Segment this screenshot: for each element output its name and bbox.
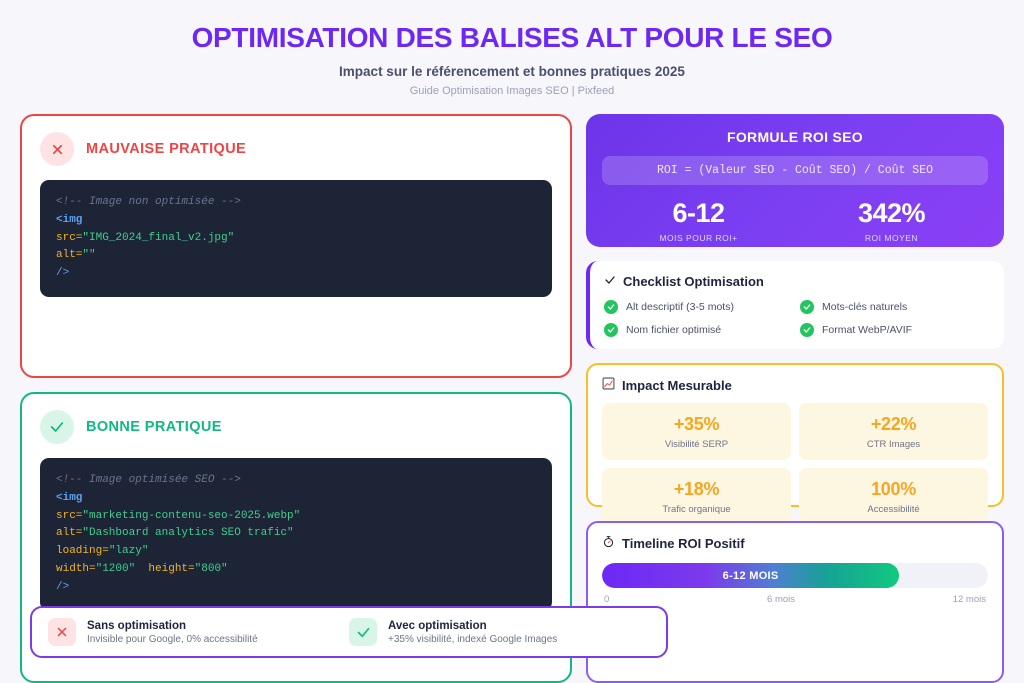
good-practice-code: <!-- Image optimisée SEO --> <img src="m…: [40, 458, 552, 611]
code-comment: <!-- Image non optimisée -->: [56, 196, 241, 208]
comparison-overlay: Sans optimisation Invisible pour Google,…: [30, 606, 668, 658]
page-header: OPTIMISATION DES BALISES ALT POUR LE SEO…: [0, 0, 1024, 97]
code-attr-name: src=: [56, 510, 82, 522]
code-attr-value: "Dashboard analytics SEO trafic": [82, 527, 293, 539]
bad-practice-code: <!-- Image non optimisée --> <img src="I…: [40, 180, 552, 297]
timeline-bar-label: 6-12 MOIS: [723, 570, 779, 582]
metric-value: +18%: [608, 479, 785, 500]
code-tag: <img: [56, 492, 82, 504]
code-attr-value: "800": [195, 563, 228, 575]
roi-formula: ROI = (Valeur SEO - Coût SEO) / Coût SEO: [602, 156, 988, 185]
metric-label: CTR Images: [805, 439, 982, 450]
roi-stat-value: 342%: [795, 198, 988, 229]
roi-title: FORMULE ROI SEO: [602, 129, 988, 145]
impact-title: Impact Mesurable: [622, 378, 732, 393]
timeline-title: Timeline ROI Positif: [622, 536, 745, 551]
list-item: Alt descriptif (3-5 mots): [604, 300, 792, 314]
roi-stats: 6-12 MOIS POUR ROI+ 342% ROI MOYEN: [602, 198, 988, 243]
timeline-header: Timeline ROI Positif: [602, 535, 988, 551]
roi-stat-caption: ROI MOYEN: [795, 233, 988, 243]
code-attr-name: alt=: [56, 249, 82, 261]
metric-label: Visibilité SERP: [608, 439, 785, 450]
comparison-left-subtitle: Invisible pour Google, 0% accessibilité: [87, 634, 258, 645]
left-column: MAUVAISE PRATIQUE <!-- Image non optimis…: [20, 114, 572, 683]
impact-metrics: +35% Visibilité SERP +22% CTR Images +18…: [602, 403, 988, 525]
metric-card: +18% Trafic organique: [602, 468, 791, 525]
metric-value: +35%: [608, 414, 785, 435]
metric-value: 100%: [805, 479, 982, 500]
content-grid: MAUVAISE PRATIQUE <!-- Image non optimis…: [20, 114, 1004, 683]
x-icon: [40, 132, 74, 166]
bad-practice-header: MAUVAISE PRATIQUE: [40, 132, 552, 166]
roi-stat: 342% ROI MOYEN: [795, 198, 988, 243]
comparison-right-title: Avec optimisation: [388, 620, 557, 632]
checklist-panel: Checklist Optimisation Alt descriptif (3…: [586, 261, 1004, 349]
timeline-ticks: 0 6 mois 12 mois: [602, 594, 988, 605]
page-source: Guide Optimisation Images SEO | Pixfeed: [0, 85, 1024, 97]
metric-card: +22% CTR Images: [799, 403, 988, 460]
code-attr-name: src=: [56, 232, 82, 244]
impact-panel: Impact Mesurable +35% Visibilité SERP +2…: [586, 363, 1004, 507]
bad-practice-label: MAUVAISE PRATIQUE: [86, 141, 246, 157]
good-practice-label: BONNE PRATIQUE: [86, 419, 222, 435]
stopwatch-icon: [602, 535, 615, 551]
roi-stat-value: 6-12: [602, 198, 795, 229]
checklist-title: Checklist Optimisation: [623, 274, 764, 289]
code-comment: <!-- Image optimisée SEO -->: [56, 474, 241, 486]
checklist-header: Checklist Optimisation: [604, 274, 988, 289]
page-title: OPTIMISATION DES BALISES ALT POUR LE SEO: [0, 22, 1024, 54]
check-mark-icon: [604, 274, 616, 289]
check-icon: [40, 410, 74, 444]
metric-card: 100% Accessibilité: [799, 468, 988, 525]
chart-increasing-icon: [602, 377, 615, 393]
timeline-tick: 0: [604, 594, 609, 605]
code-attr-value: "1200": [96, 563, 136, 575]
code-close: />: [56, 581, 69, 593]
code-close: />: [56, 267, 69, 279]
timeline-track[interactable]: 6-12 MOIS: [602, 563, 988, 588]
list-item-label: Nom fichier optimisé: [626, 324, 721, 336]
code-attr-name: loading=: [56, 545, 109, 557]
timeline-fill: 6-12 MOIS: [602, 563, 899, 588]
good-practice-header: BONNE PRATIQUE: [40, 410, 552, 444]
comparison-right: Avec optimisation +35% visibilité, index…: [349, 618, 650, 646]
check-circle-icon: [800, 323, 814, 337]
roi-stat-caption: MOIS POUR ROI+: [602, 233, 795, 243]
metric-label: Trafic organique: [608, 504, 785, 515]
check-icon: [349, 618, 377, 646]
right-column: FORMULE ROI SEO ROI = (Valeur SEO - Coût…: [586, 114, 1004, 683]
code-attr-value: "marketing-contenu-seo-2025.webp": [82, 510, 300, 522]
list-item-label: Format WebP/AVIF: [822, 324, 912, 336]
page-subtitle: Impact sur le référencement et bonnes pr…: [0, 64, 1024, 79]
list-item-label: Alt descriptif (3-5 mots): [626, 301, 734, 313]
code-attr-name: alt=: [56, 527, 82, 539]
timeline-tick: 12 mois: [953, 594, 986, 605]
checklist-items: Alt descriptif (3-5 mots) Mots-clés natu…: [604, 300, 988, 337]
code-attr-name: height=: [148, 563, 194, 575]
check-circle-icon: [604, 323, 618, 337]
code-tag: <img: [56, 214, 82, 226]
bad-practice-card: MAUVAISE PRATIQUE <!-- Image non optimis…: [20, 114, 572, 378]
list-item: Mots-clés naturels: [800, 300, 988, 314]
code-attr-value: "IMG_2024_final_v2.jpg": [82, 232, 234, 244]
metric-label: Accessibilité: [805, 504, 982, 515]
list-item: Nom fichier optimisé: [604, 323, 792, 337]
comparison-left-text: Sans optimisation Invisible pour Google,…: [87, 620, 258, 645]
roi-stat: 6-12 MOIS POUR ROI+: [602, 198, 795, 243]
impact-header: Impact Mesurable: [602, 377, 988, 393]
code-attr-value: "lazy": [109, 545, 149, 557]
metric-card: +35% Visibilité SERP: [602, 403, 791, 460]
roi-formula-panel: FORMULE ROI SEO ROI = (Valeur SEO - Coût…: [586, 114, 1004, 247]
timeline-tick: 6 mois: [767, 594, 795, 605]
timeline-panel: Timeline ROI Positif 6-12 MOIS 0 6 mois …: [586, 521, 1004, 683]
x-icon: [48, 618, 76, 646]
code-attr-value: "": [82, 249, 95, 261]
check-circle-icon: [800, 300, 814, 314]
comparison-left-title: Sans optimisation: [87, 620, 258, 632]
code-attr-name: width=: [56, 563, 96, 575]
comparison-left: Sans optimisation Invisible pour Google,…: [48, 618, 349, 646]
check-circle-icon: [604, 300, 618, 314]
list-item: Format WebP/AVIF: [800, 323, 988, 337]
list-item-label: Mots-clés naturels: [822, 301, 907, 313]
metric-value: +22%: [805, 414, 982, 435]
comparison-right-text: Avec optimisation +35% visibilité, index…: [388, 620, 557, 645]
comparison-right-subtitle: +35% visibilité, indexé Google Images: [388, 634, 557, 645]
